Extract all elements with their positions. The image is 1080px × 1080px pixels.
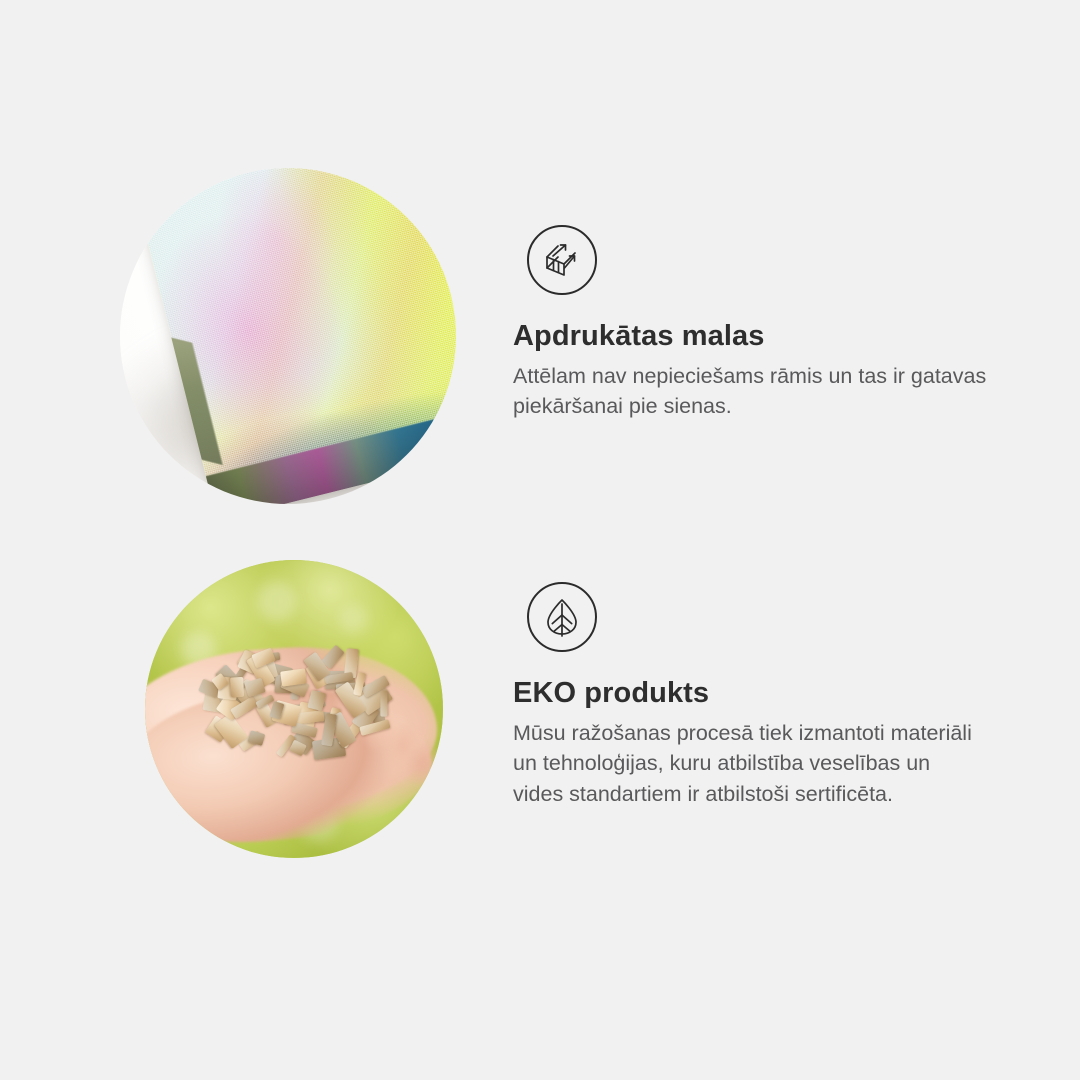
leaf-icon	[527, 582, 597, 652]
wood-chip	[231, 677, 245, 698]
wood-chip	[307, 690, 326, 711]
printed-edges-icon-glyph	[540, 238, 584, 282]
printed-edges-icon	[527, 225, 597, 295]
feature-row-printed-edges: Apdrukātas malas Attēlam nav nepieciešam…	[0, 168, 993, 504]
feature-description: Mūsu ražošanas procesā tiek izmantoti ma…	[513, 718, 983, 810]
feature-content-eco-product: EKO produkts Mūsu ražošanas procesā tiek…	[513, 560, 983, 809]
canvas-corner-photo	[120, 168, 456, 504]
product-features-page: Apdrukātas malas Attēlam nav nepieciešam…	[0, 0, 1080, 1080]
wood-chip	[380, 690, 387, 716]
feature-content-printed-edges: Apdrukātas malas Attēlam nav nepieciešam…	[513, 168, 993, 422]
leaf-icon-glyph	[541, 596, 583, 638]
feature-title: EKO produkts	[513, 676, 983, 711]
feature-row-eco-product: EKO produkts Mūsu ražošanas procesā tiek…	[0, 560, 983, 858]
wood-chips-pile	[211, 649, 384, 768]
feature-title: Apdrukātas malas	[513, 319, 993, 354]
wood-chips-hands-photo	[145, 560, 443, 858]
feature-description: Attēlam nav nepieciešams rāmis un tas ir…	[513, 361, 993, 422]
